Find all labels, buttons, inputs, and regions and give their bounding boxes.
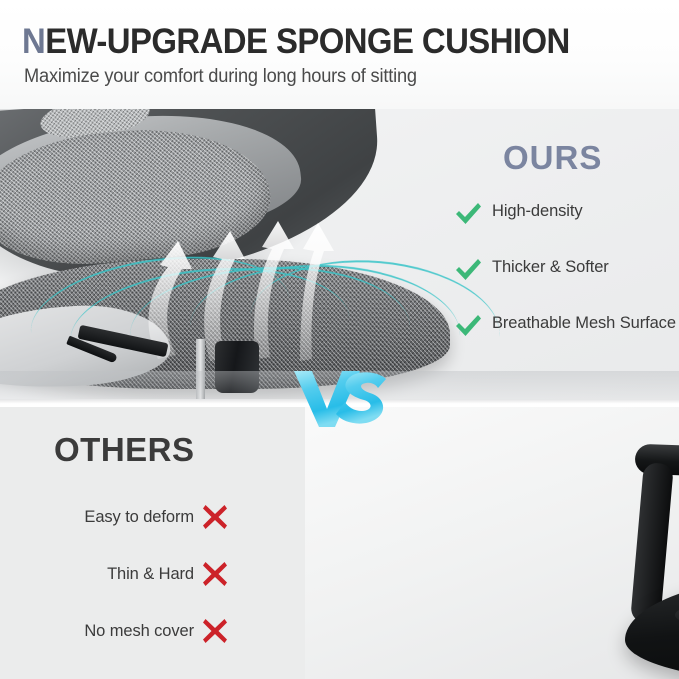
page-subtitle: Maximize your comfort during long hours …: [24, 66, 417, 88]
others-list-item: No mesh cover: [84, 616, 230, 646]
others-heading: OTHERS: [54, 431, 195, 469]
headline-lead-letter: N: [22, 22, 45, 61]
headline-rest: EW-UPGRADE SPONGE CUSHION: [45, 22, 569, 61]
others-list-item: Thin & Hard: [107, 559, 230, 589]
check-icon: [453, 255, 483, 285]
others-item-label: Thin & Hard: [107, 565, 194, 584]
others-feature-list: OTHERS Easy to deform Thin & Hard No mes…: [0, 407, 305, 679]
ours-item-label: Breathable Mesh Surface: [492, 313, 676, 333]
check-icon: [453, 311, 483, 341]
ours-list-item: High-density: [453, 201, 679, 229]
check-icon: [453, 199, 483, 229]
cross-icon: [200, 559, 230, 589]
others-list-item: Easy to deform: [84, 502, 230, 532]
ours-item-label: High-density: [492, 201, 583, 221]
vs-icon: [290, 367, 394, 429]
others-photo: [305, 407, 679, 679]
ours-item-label: Thicker & Softer: [492, 257, 609, 277]
ours-feature-list: OURS High-density Thicker & Softer Breat…: [443, 109, 679, 405]
ours-heading: OURS: [503, 139, 602, 177]
airflow-arrow-3: [254, 221, 294, 359]
cross-icon: [200, 616, 230, 646]
product-comparison-infographic: NEW-UPGRADE SPONGE CUSHION Maximize your…: [0, 0, 679, 679]
cross-icon: [200, 502, 230, 532]
versus-badge: [290, 367, 394, 429]
others-item-label: Easy to deform: [84, 508, 194, 527]
page-title: NEW-UPGRADE SPONGE CUSHION: [22, 22, 570, 62]
others-item-label: No mesh cover: [84, 622, 194, 641]
ours-panel: OURS High-density Thicker & Softer Breat…: [0, 109, 679, 405]
ours-list-item: Thicker & Softer: [453, 257, 679, 285]
header-banner: NEW-UPGRADE SPONGE CUSHION Maximize your…: [0, 0, 679, 109]
airflow-arrow-4: [300, 223, 334, 361]
ours-list-item: Breathable Mesh Surface: [453, 313, 679, 341]
